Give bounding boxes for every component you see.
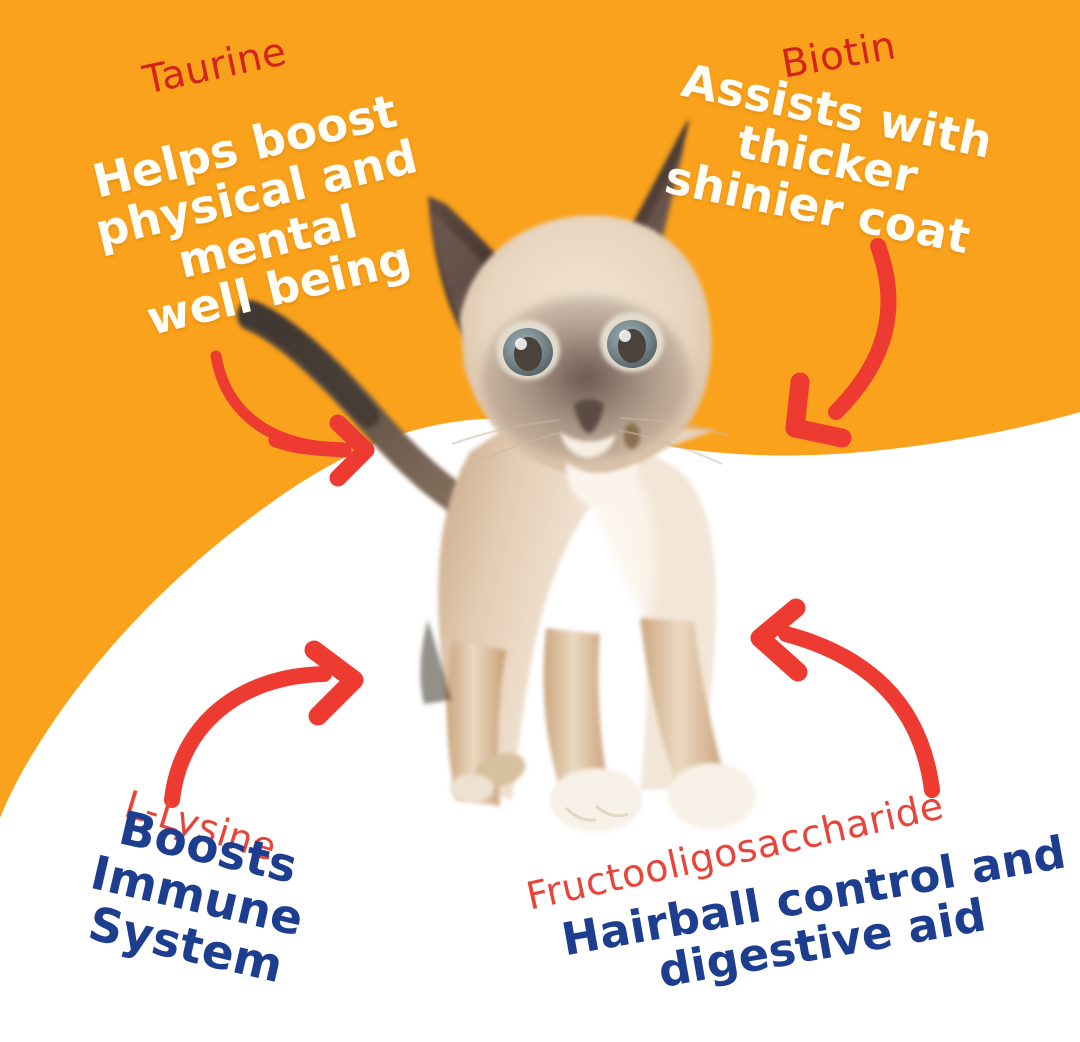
curved-arrow-up-left-icon [786, 634, 932, 790]
curved-arrow-down-left-icon [836, 246, 888, 412]
curved-arrow-right-icon [216, 356, 316, 446]
curved-arrow-up-right-icon [172, 674, 324, 800]
curved-arrow-up-right-head-icon [314, 650, 354, 716]
nutrient-infographic-poster: Taurine Helps boost physical and mental … [0, 0, 1080, 1042]
